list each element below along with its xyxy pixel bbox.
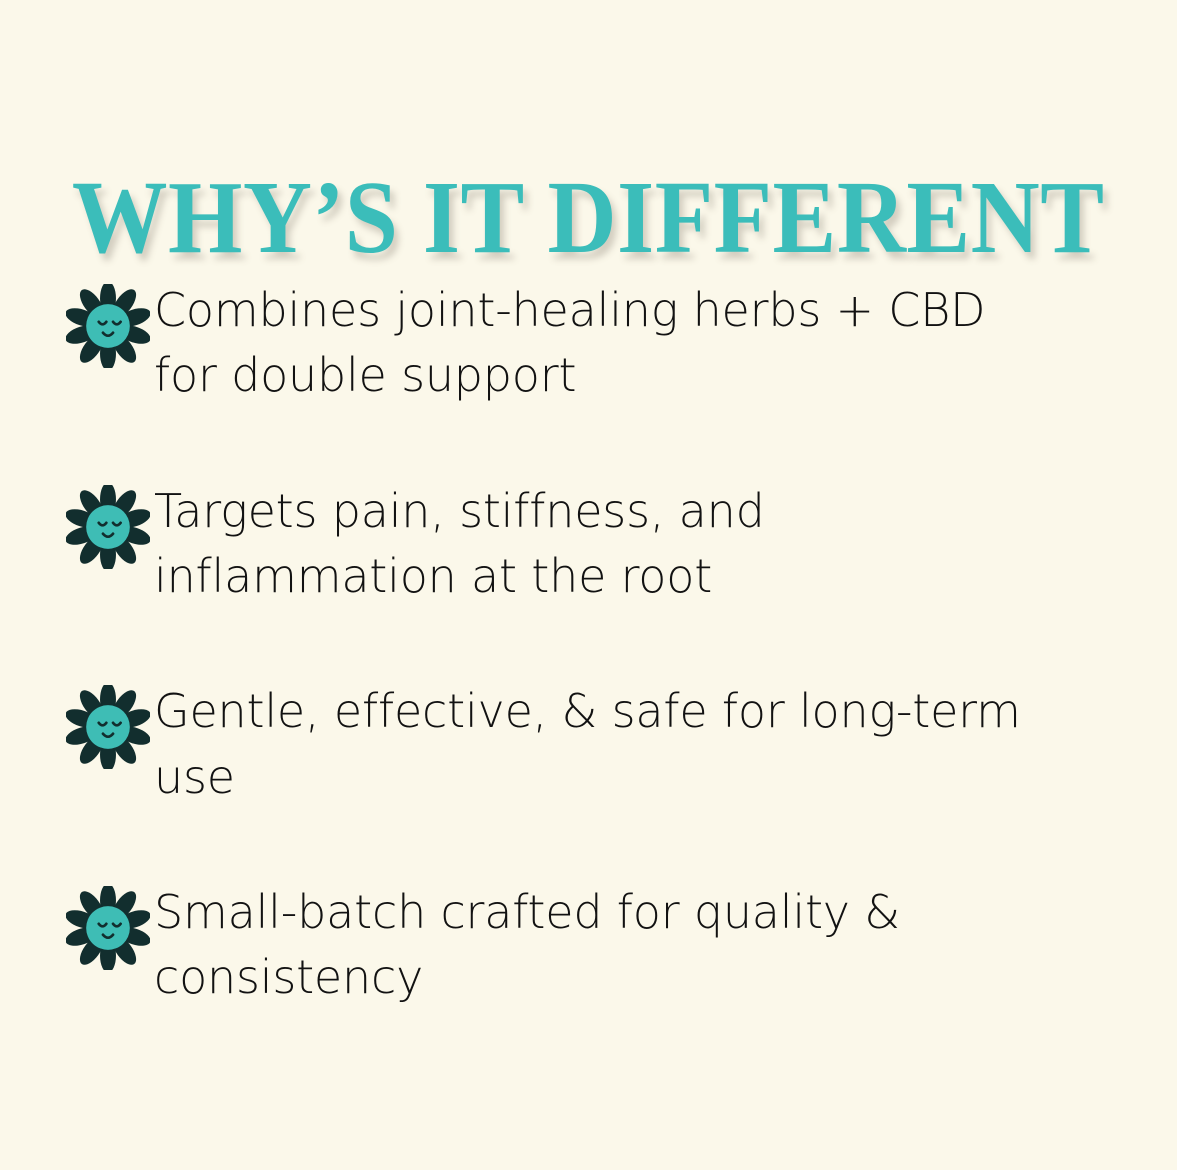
list-item: Small-batch crafted for quality & consis…: [62, 880, 1112, 1011]
list-item-label: Combines joint-healing herbs + CBD for d…: [154, 278, 1034, 409]
list-item-label: Small-batch crafted for quality & consis…: [154, 880, 1034, 1011]
bullet-marker-cell: [62, 479, 154, 569]
list-item-label: Gentle, effective, & safe for long-term …: [154, 679, 1034, 810]
list-item: Targets pain, stiffness, and inflammatio…: [62, 479, 1112, 610]
list-item: Gentle, effective, & safe for long-term …: [62, 679, 1112, 810]
flower-smiling-icon: [66, 886, 150, 970]
bullet-marker-cell: [62, 679, 154, 769]
page-title: WHY’S IT DIFFERENT: [72, 166, 1105, 270]
why-its-different-panel: WHY’S IT DIFFERENT: [0, 0, 1177, 1170]
bullet-marker-cell: [62, 880, 154, 970]
benefits-list: Combines joint-healing herbs + CBD for d…: [62, 278, 1112, 1011]
flower-smiling-icon: [66, 685, 150, 769]
bullet-marker-cell: [62, 278, 154, 368]
flower-smiling-icon: [66, 284, 150, 368]
list-item: Combines joint-healing herbs + CBD for d…: [62, 278, 1112, 409]
list-item-label: Targets pain, stiffness, and inflammatio…: [154, 479, 1034, 610]
flower-smiling-icon: [66, 485, 150, 569]
